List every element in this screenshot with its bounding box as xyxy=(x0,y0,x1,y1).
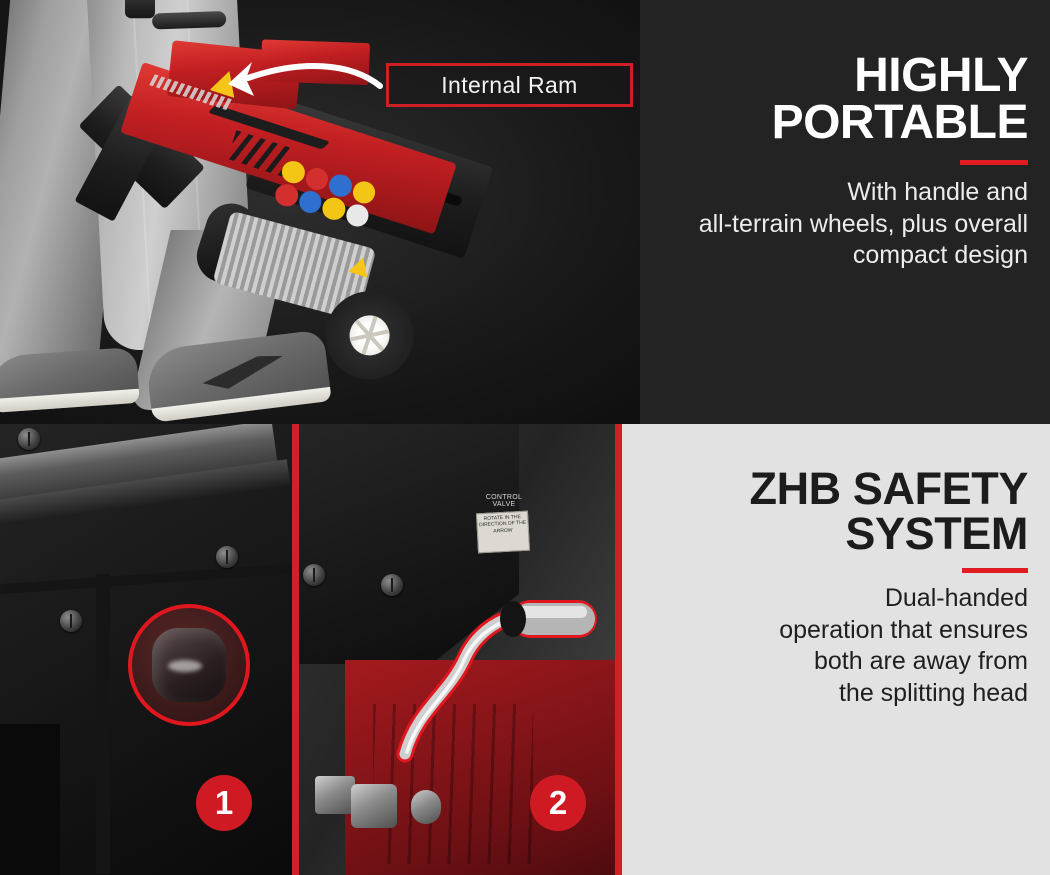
bottom-subtitle-line3: both are away from xyxy=(628,646,1028,678)
callout-label: Internal Ram xyxy=(441,72,577,99)
top-subtitle-line2: all-terrain wheels, plus overall xyxy=(608,209,1028,241)
top-text-block: HIGHLY PORTABLE With handle and all-terr… xyxy=(608,52,1028,272)
bottom-subtitle-line2: operation that ensures xyxy=(628,615,1028,647)
wheel-spoke xyxy=(368,334,384,352)
bottom-heading-line2: SYSTEM xyxy=(628,511,1028,556)
top-subtitle-line1: With handle and xyxy=(608,177,1028,209)
panel-divider-right xyxy=(615,424,622,875)
panel-divider-left xyxy=(292,424,299,875)
bottom-heading-line1: ZHB SAFETY xyxy=(628,466,1028,511)
bottom-subtitle-line1: Dual-handed xyxy=(628,583,1028,615)
top-feature-panel: Internal Ram HIGHLY PORTABLE With handle… xyxy=(0,0,1050,424)
product-feature-poster: Internal Ram HIGHLY PORTABLE With handle… xyxy=(0,0,1050,875)
bottom-subtitle-line4: the splitting head xyxy=(628,678,1028,710)
step-badge-2: 2 xyxy=(530,775,586,831)
internal-ram-callout: Internal Ram xyxy=(386,63,633,107)
top-heading-line1: HIGHLY xyxy=(608,52,1028,99)
top-subtitle-line3: compact design xyxy=(608,240,1028,272)
step-badge-1: 1 xyxy=(196,775,252,831)
top-divider-rule xyxy=(960,160,1028,165)
cap-glint xyxy=(168,660,202,672)
bottom-text-block: ZHB SAFETY SYSTEM Dual-handed operation … xyxy=(628,466,1028,709)
bottom-divider-rule xyxy=(962,568,1028,573)
top-heading-line2: PORTABLE xyxy=(608,99,1028,146)
